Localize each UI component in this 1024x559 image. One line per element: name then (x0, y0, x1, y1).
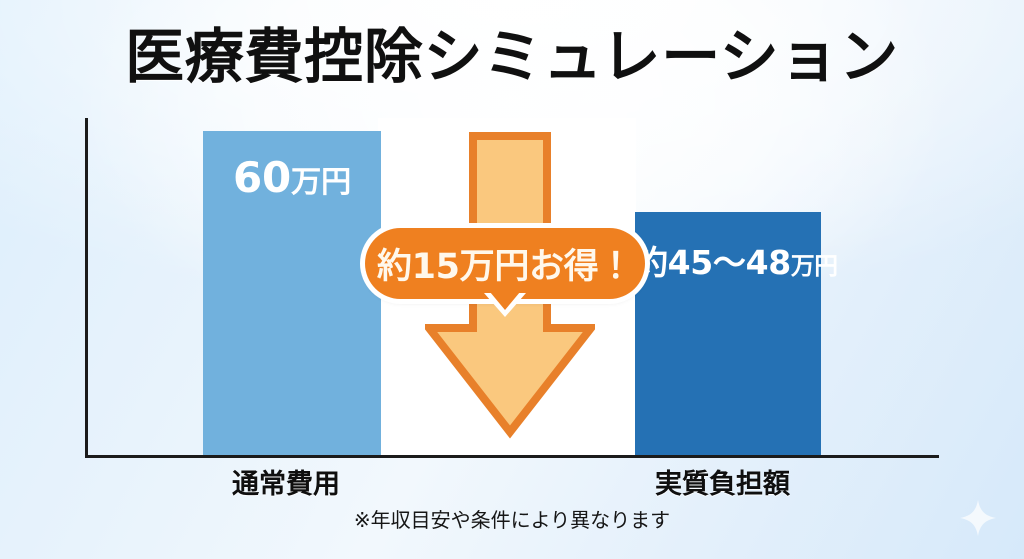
x-label-normal-cost: 通常費用 (232, 462, 340, 501)
bar-normal-cost: 60万円 (203, 131, 381, 455)
bar-normal-cost-unit: 万円 (291, 165, 351, 200)
x-axis-line (85, 455, 939, 458)
savings-badge-label: 約15万円お得！ (365, 228, 645, 299)
y-axis-line (85, 118, 88, 458)
bar-actual-burden-value: 約45〜48万円 (635, 236, 821, 284)
page-title: 医療費控除シミュレーション (0, 26, 1024, 88)
bar-normal-cost-number: 60 (233, 153, 291, 202)
bar-normal-cost-value: 60万円 (203, 153, 381, 202)
bar-actual-burden: 約45〜48万円 (635, 212, 821, 455)
bar-chart: 60万円 約45〜48万円 約15万円お得！ (85, 118, 939, 458)
bar-actual-burden-number: 約45〜48 (635, 243, 791, 282)
bar-actual-burden-unit: 万円 (791, 252, 838, 280)
x-label-actual-burden: 実質負担額 (655, 462, 790, 501)
savings-badge: 約15万円お得！ (365, 228, 645, 299)
footnote-text: ※年収目安や条件により異なります (0, 504, 1024, 533)
slide-canvas: 医療費控除シミュレーション 60万円 約45〜48万円 約15万円 (0, 0, 1024, 559)
